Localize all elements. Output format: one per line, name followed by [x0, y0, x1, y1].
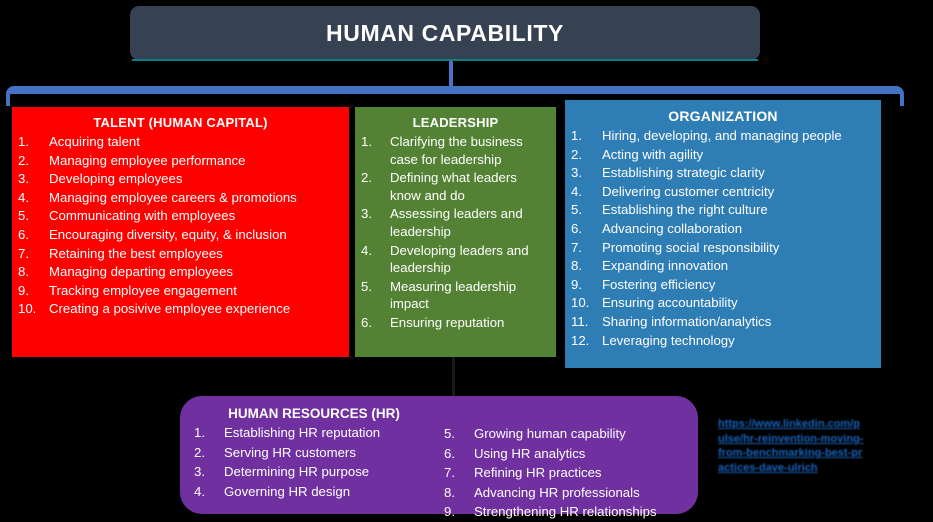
list-text: Establishing strategic clarity [602, 165, 765, 180]
list-item: 6.Ensuring reputation [361, 314, 550, 332]
list-number: 3. [571, 164, 597, 182]
column-leadership: LEADERSHIP 1.Clarifying the business cas… [355, 107, 556, 357]
list-number: 5. [444, 424, 469, 444]
list-number: 11. [571, 313, 597, 331]
list-item: 4.Developing leaders and leadership [361, 242, 550, 277]
list-item: 12.Leveraging technology [571, 332, 875, 350]
list-text: Defining what leaders know and do [390, 170, 517, 203]
list-number: 4. [571, 183, 597, 201]
list-number: 6. [571, 220, 597, 238]
list-number: 8. [444, 483, 469, 503]
list-number: 4. [18, 189, 44, 207]
list-item: 2.Defining what leaders know and do [361, 169, 550, 204]
list-number: 5. [361, 278, 387, 296]
list-text: Sharing information/analytics [602, 314, 771, 329]
list-item: 9.Strengthening HR relationships [444, 502, 684, 522]
list-number: 1. [194, 423, 219, 443]
list-number: 7. [18, 245, 44, 263]
list-text: Refining HR practices [474, 465, 602, 480]
column-title-leadership: LEADERSHIP [361, 115, 550, 130]
list-item: 3.Developing employees [18, 170, 343, 188]
list-text: Encouraging diversity, equity, & inclusi… [49, 227, 287, 242]
list-number: 9. [18, 282, 44, 300]
list-text: Communicating with employees [49, 208, 235, 223]
column-title-organization: ORGANIZATION [571, 108, 875, 124]
list-number: 2. [571, 146, 597, 164]
list-text: Advancing collaboration [602, 221, 742, 236]
list-text: Managing employee careers & promotions [49, 190, 297, 205]
list-number: 6. [361, 314, 387, 332]
list-item: 2.Serving HR customers [194, 443, 434, 463]
list-text: Advancing HR professionals [474, 485, 640, 500]
list-number: 12. [571, 332, 597, 350]
connector-stem [449, 61, 453, 89]
list-text: Establishing HR reputation [224, 425, 380, 440]
list-number: 3. [361, 205, 387, 223]
list-text: Measuring leadership impact [390, 279, 516, 312]
list-text: Strengthening HR relationships [474, 504, 657, 519]
list-text: Acting with agility [602, 147, 703, 162]
list-number: 6. [444, 444, 469, 464]
list-number: 5. [571, 201, 597, 219]
list-leadership: 1.Clarifying the business case for leade… [361, 133, 550, 332]
list-text: Serving HR customers [224, 445, 356, 460]
list-number: 5. [18, 207, 44, 225]
list-item: 8.Expanding innovation [571, 257, 875, 275]
list-text: Managing employee performance [49, 153, 245, 168]
column-title-talent: TALENT (HUMAN CAPITAL) [18, 115, 343, 130]
source-link[interactable]: https://www.linkedin.com/pulse/hr-reinve… [718, 417, 866, 475]
list-item: 2.Managing employee performance [18, 152, 343, 170]
hr-spacer [444, 406, 684, 424]
list-item: 4.Governing HR design [194, 482, 434, 502]
hr-title: HUMAN RESOURCES (HR) [194, 406, 434, 421]
list-text: Delivering customer centricity [602, 184, 774, 199]
list-item: 6.Advancing collaboration [571, 220, 875, 238]
list-number: 4. [361, 242, 387, 260]
diagram-canvas: HUMAN CAPABILITY TALENT (HUMAN CAPITAL) … [0, 0, 933, 520]
list-number: 10. [571, 294, 597, 312]
hr-list-right: 5.Growing human capability 6.Using HR an… [444, 424, 684, 522]
list-organization: 1.Hiring, developing, and managing peopl… [571, 127, 875, 349]
list-text: Managing departing employees [49, 264, 233, 279]
column-talent: TALENT (HUMAN CAPITAL) 1.Acquiring talen… [12, 107, 349, 357]
list-number: 2. [194, 443, 219, 463]
list-number: 9. [571, 276, 597, 294]
list-item: 5.Growing human capability [444, 424, 684, 444]
human-resources-box: HUMAN RESOURCES (HR) 1.Establishing HR r… [180, 396, 698, 514]
list-item: 2.Acting with agility [571, 146, 875, 164]
list-item: 1.Acquiring talent [18, 133, 343, 151]
list-item: 11.Sharing information/analytics [571, 313, 875, 331]
list-item: 6.Using HR analytics [444, 444, 684, 464]
header-underline [132, 59, 758, 61]
list-text: Determining HR purpose [224, 464, 369, 479]
list-item: 3.Assessing leaders and leadership [361, 205, 550, 240]
list-text: Creating a posivive employee experience [49, 301, 290, 316]
list-number: 3. [194, 462, 219, 482]
list-number: 8. [571, 257, 597, 275]
list-number: 7. [444, 463, 469, 483]
hr-column-right: 5.Growing human capability 6.Using HR an… [444, 406, 684, 506]
list-text: Establishing the right culture [602, 202, 768, 217]
list-item: 4.Delivering customer centricity [571, 183, 875, 201]
list-text: Promoting social responsibility [602, 240, 779, 255]
list-number: 1. [361, 133, 387, 151]
list-number: 10. [18, 300, 44, 318]
list-text: Fostering efficiency [602, 277, 715, 292]
list-item: 8.Advancing HR professionals [444, 483, 684, 503]
list-item: 10.Ensuring accountability [571, 294, 875, 312]
list-item: 9.Fostering efficiency [571, 276, 875, 294]
list-text: Leveraging technology [602, 333, 735, 348]
list-text: Hiring, developing, and managing people [602, 128, 842, 143]
list-item: 7.Retaining the best employees [18, 245, 343, 263]
list-number: 3. [18, 170, 44, 188]
list-text: Expanding innovation [602, 258, 728, 273]
list-item: 3.Establishing strategic clarity [571, 164, 875, 182]
page-title: HUMAN CAPABILITY [326, 20, 564, 47]
list-item: 1.Establishing HR reputation [194, 423, 434, 443]
list-item: 5.Establishing the right culture [571, 201, 875, 219]
list-item: 4.Managing employee careers & promotions [18, 189, 343, 207]
list-number: 2. [18, 152, 44, 170]
list-number: 9. [444, 502, 469, 522]
list-item: 3.Determining HR purpose [194, 462, 434, 482]
hr-connector-stem [452, 357, 455, 396]
list-text: Tracking employee engagement [49, 283, 237, 298]
list-text: Ensuring accountability [602, 295, 738, 310]
list-item: 5.Measuring leadership impact [361, 278, 550, 313]
list-text: Governing HR design [224, 484, 350, 499]
list-item: 7.Refining HR practices [444, 463, 684, 483]
list-item: 8.Managing departing employees [18, 263, 343, 281]
list-text: Developing leaders and leadership [390, 243, 529, 276]
list-number: 7. [571, 239, 597, 257]
list-text: Developing employees [49, 171, 182, 186]
list-number: 1. [571, 127, 597, 145]
list-item: 6.Encouraging diversity, equity, & inclu… [18, 226, 343, 244]
list-number: 4. [194, 482, 219, 502]
column-organization: ORGANIZATION 1.Hiring, developing, and m… [565, 100, 881, 368]
list-text: Ensuring reputation [390, 315, 504, 330]
list-text: Growing human capability [474, 426, 626, 441]
list-number: 2. [361, 169, 387, 187]
list-item: 10.Creating a posivive employee experien… [18, 300, 343, 318]
list-item: 5.Communicating with employees [18, 207, 343, 225]
list-text: Using HR analytics [474, 446, 585, 461]
list-talent: 1.Acquiring talent 2.Managing employee p… [18, 133, 343, 318]
list-number: 6. [18, 226, 44, 244]
list-item: 1.Hiring, developing, and managing peopl… [571, 127, 875, 145]
list-text: Retaining the best employees [49, 246, 223, 261]
hr-list-left: 1.Establishing HR reputation 2.Serving H… [194, 423, 434, 501]
list-number: 1. [18, 133, 44, 151]
list-text: Acquiring talent [49, 134, 140, 149]
list-text: Clarifying the business case for leaders… [390, 134, 523, 167]
hr-column-left: HUMAN RESOURCES (HR) 1.Establishing HR r… [194, 406, 434, 506]
list-text: Assessing leaders and leadership [390, 206, 523, 239]
list-number: 8. [18, 263, 44, 281]
human-capability-header: HUMAN CAPABILITY [130, 6, 760, 60]
list-item: 1.Clarifying the business case for leade… [361, 133, 550, 168]
list-item: 7.Promoting social responsibility [571, 239, 875, 257]
list-item: 9.Tracking employee engagement [18, 282, 343, 300]
